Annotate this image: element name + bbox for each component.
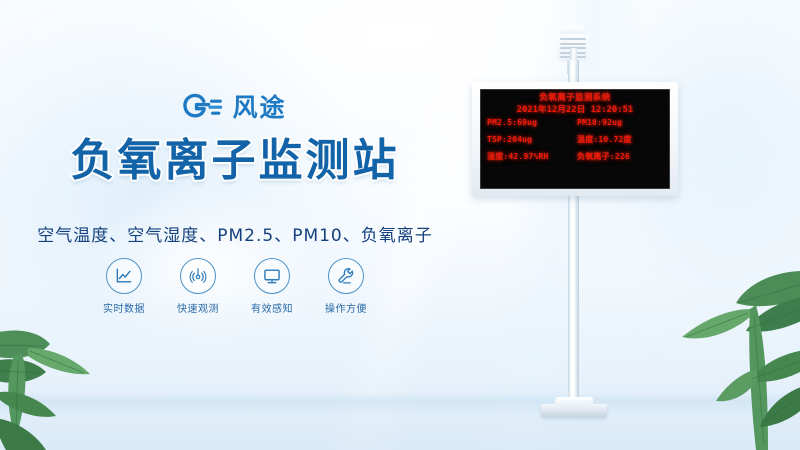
reading-pm25: PM2.5:69ug — [487, 119, 573, 127]
reading-humidity: 湿度:42.97%RH — [487, 153, 573, 161]
feature-item-effective-sensing[interactable]: 有效感知 — [248, 258, 296, 315]
leaf-plant-right-icon — [664, 265, 800, 450]
monitor-icon — [254, 258, 290, 294]
wind-g-logo-icon — [183, 93, 223, 121]
led-screen-title: 负氧离子监测系统 — [480, 94, 670, 103]
poster-canvas: 风途 负氧离子监测站 空气温度、空气湿度、PM2.5、PM10、负氧离子 实时数… — [0, 0, 800, 450]
led-display-bezel: 负氧离子监测系统 2021年12月22日 12:20:51 PM2.5:69ug… — [472, 82, 678, 196]
leaf-plant-left-icon — [0, 300, 154, 450]
sensor-fin — [560, 43, 586, 45]
led-screen-datetime: 2021年12月22日 12:20:51 — [480, 106, 670, 115]
line-chart-icon — [106, 258, 142, 294]
feature-label: 有效感知 — [251, 300, 293, 315]
led-readings-grid: PM2.5:69ug PM10:92ug TSP:204ug 温度:10.72度… — [487, 119, 663, 161]
brand-name: 风途 — [232, 95, 286, 120]
feature-item-easy-operation[interactable]: 操作方便 — [322, 258, 370, 315]
reading-anion: 负氧离子:226 — [577, 153, 663, 161]
page-title: 负氧离子监测站 — [0, 136, 470, 185]
radar-signal-icon — [180, 258, 216, 294]
reading-temperature: 温度:10.72度 — [577, 136, 663, 144]
led-display-screen[interactable]: 负氧离子监测系统 2021年12月22日 12:20:51 PM2.5:69ug… — [480, 89, 670, 189]
hero-subtitle: 空气温度、空气湿度、PM2.5、PM10、负氧离子 — [0, 221, 470, 246]
wrench-icon — [328, 258, 364, 294]
reading-tsp: TSP:204ug — [487, 136, 573, 144]
feature-label: 快速观测 — [177, 300, 219, 315]
sensor-fin — [560, 38, 586, 40]
reading-pm10: PM10:92ug — [577, 119, 663, 127]
pole-base-flange-icon — [541, 404, 607, 417]
brand-logo: 风途 — [0, 93, 470, 121]
feature-item-fast-observation[interactable]: 快速观测 — [174, 258, 222, 315]
feature-label: 操作方便 — [325, 300, 367, 315]
